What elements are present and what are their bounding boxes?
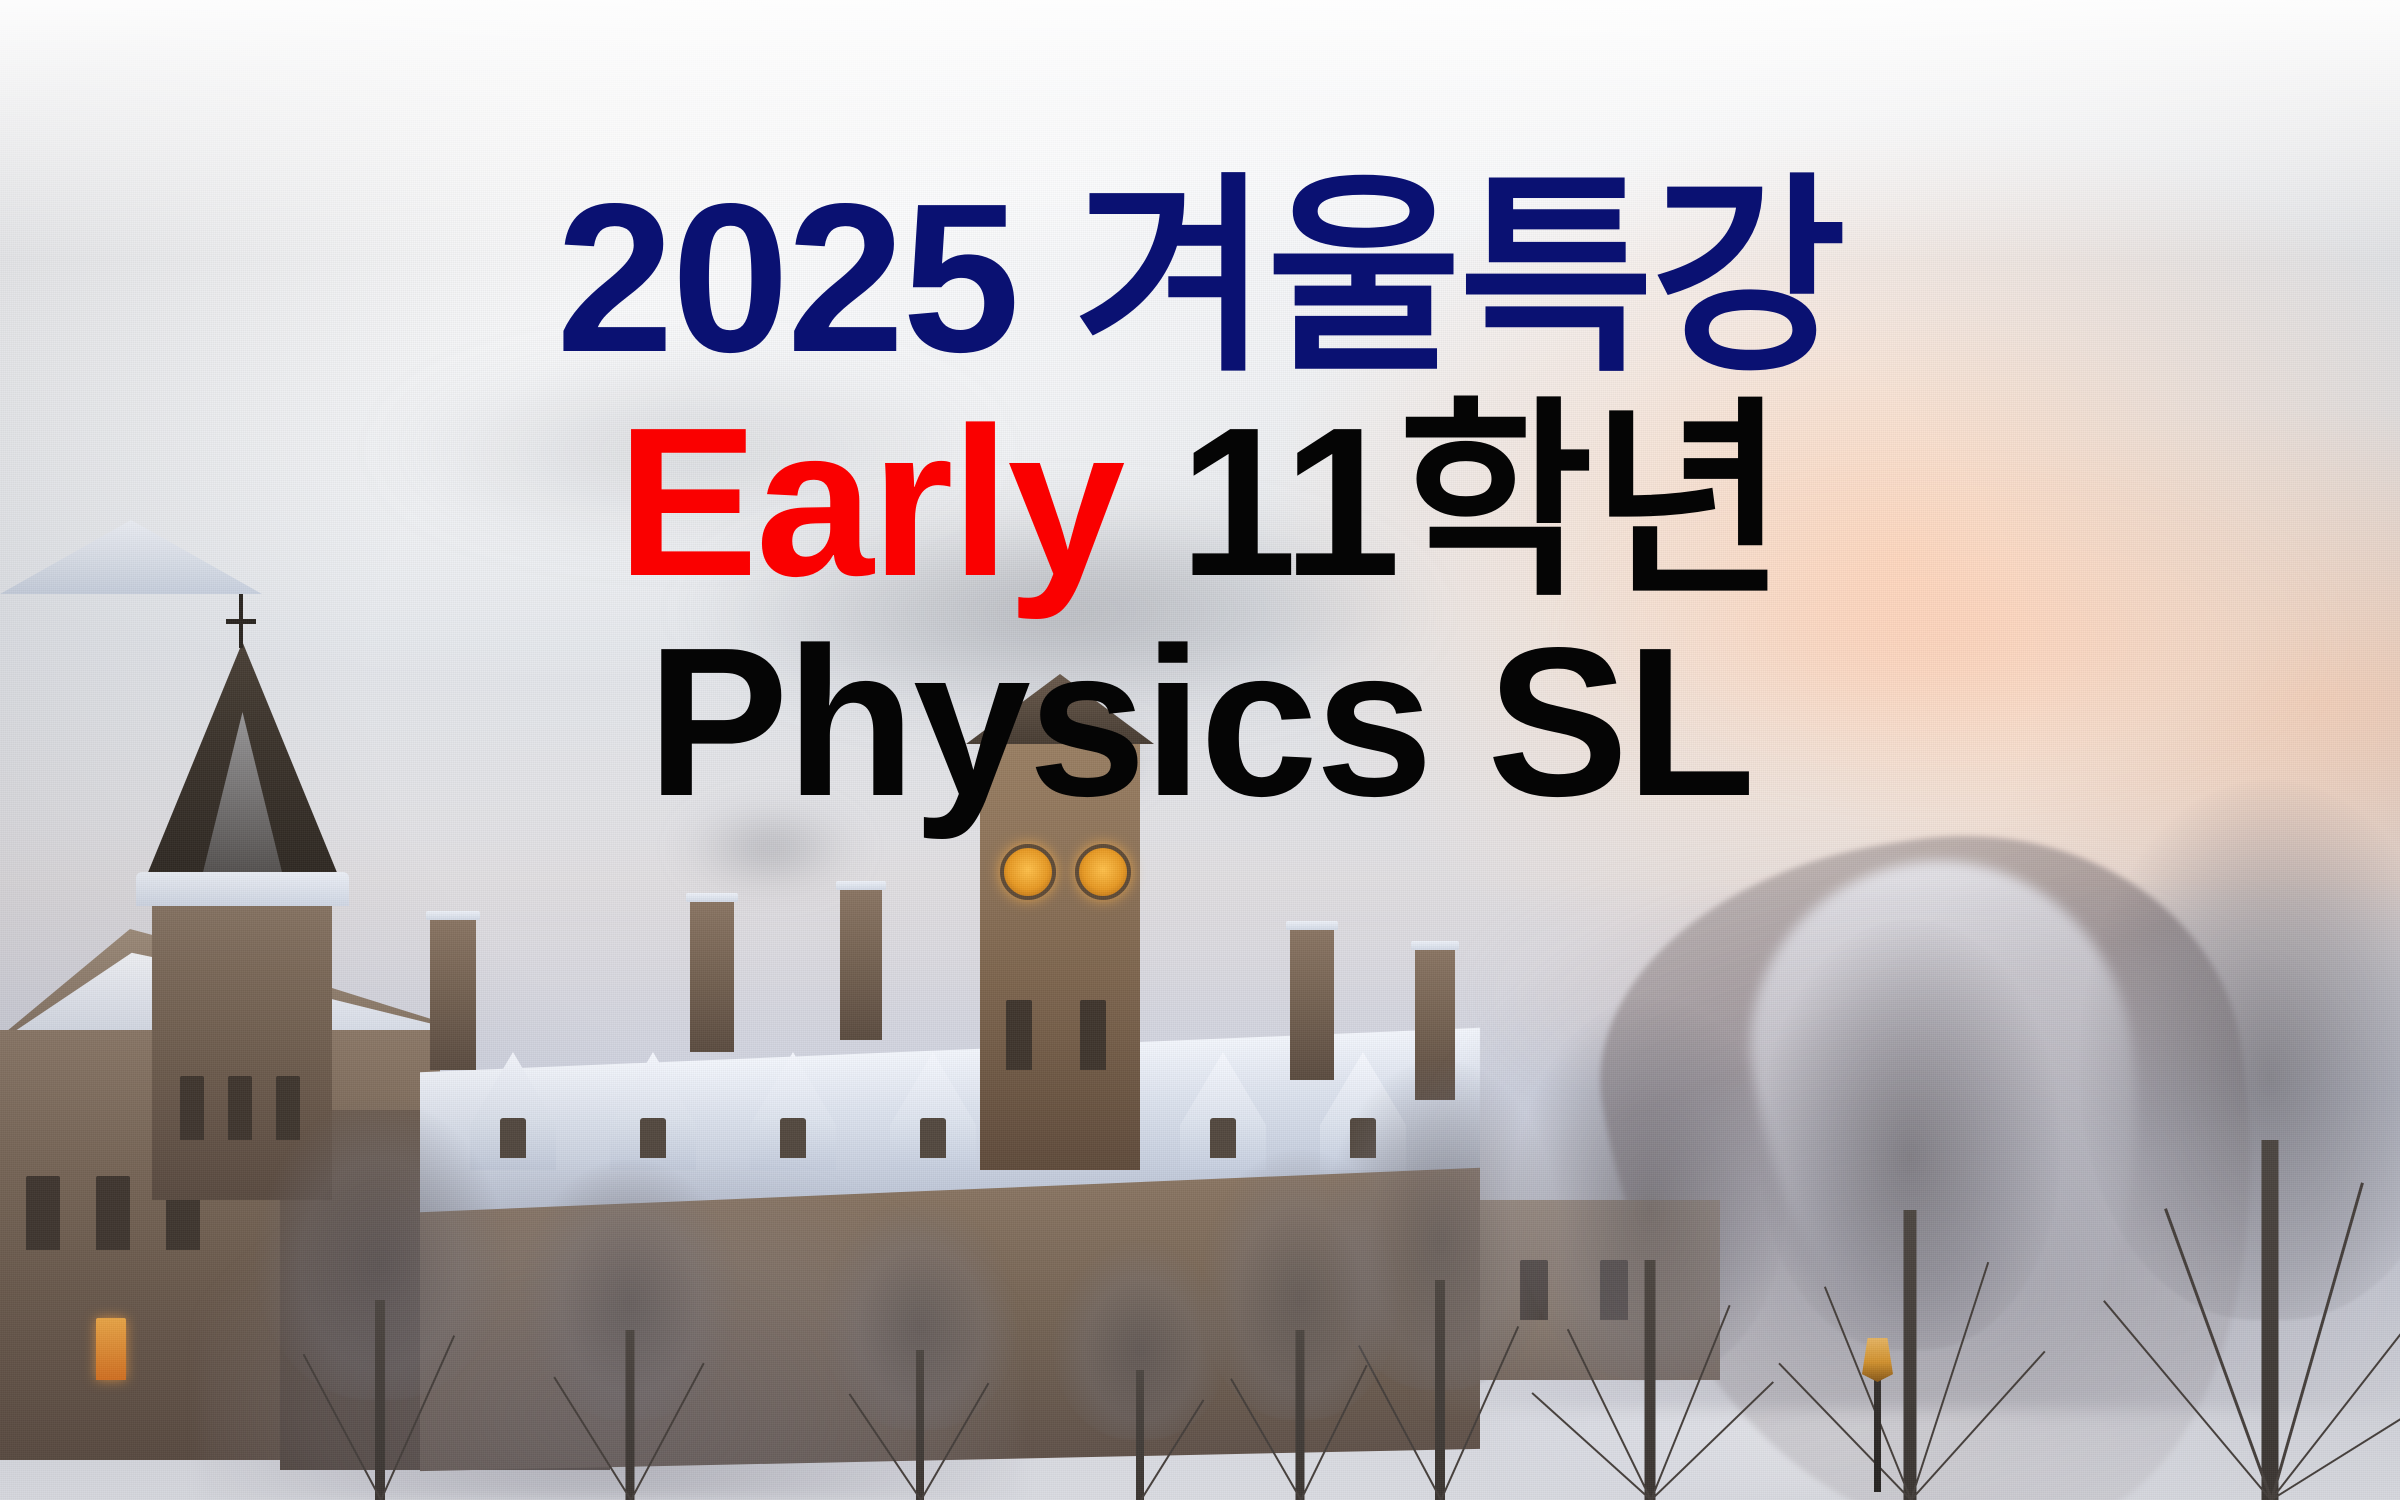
window	[26, 1176, 60, 1250]
clock-face	[1075, 844, 1131, 900]
tower-window	[228, 1076, 252, 1140]
chimney	[840, 890, 882, 1040]
chimney	[690, 902, 734, 1052]
tower-window	[1080, 1000, 1106, 1070]
poster-canvas: 2025 겨울특강 Early 11학년 Physics SL	[0, 0, 2400, 1500]
spire-finial-cross	[226, 619, 256, 624]
bare-tree	[1760, 940, 2060, 1500]
window-lit	[96, 1318, 126, 1380]
tower-window	[180, 1076, 204, 1140]
chimney	[430, 920, 476, 1070]
tower-snow-cap	[136, 872, 349, 906]
building-right-roof	[0, 520, 262, 594]
bare-tree	[520, 1160, 740, 1500]
clock-tower	[980, 740, 1140, 1170]
bare-tree	[820, 1200, 1020, 1500]
window	[96, 1176, 130, 1250]
clock-face	[1000, 844, 1056, 900]
street-lamp-head	[1862, 1338, 1893, 1382]
tower-window	[1006, 1000, 1032, 1070]
bare-tree	[2090, 800, 2400, 1500]
bare-tree	[1050, 1240, 1230, 1500]
street-lamp-post	[1874, 1372, 1881, 1492]
chimney	[1290, 930, 1334, 1080]
bare-tree	[250, 1100, 510, 1500]
bare-tree	[1200, 1160, 1400, 1500]
